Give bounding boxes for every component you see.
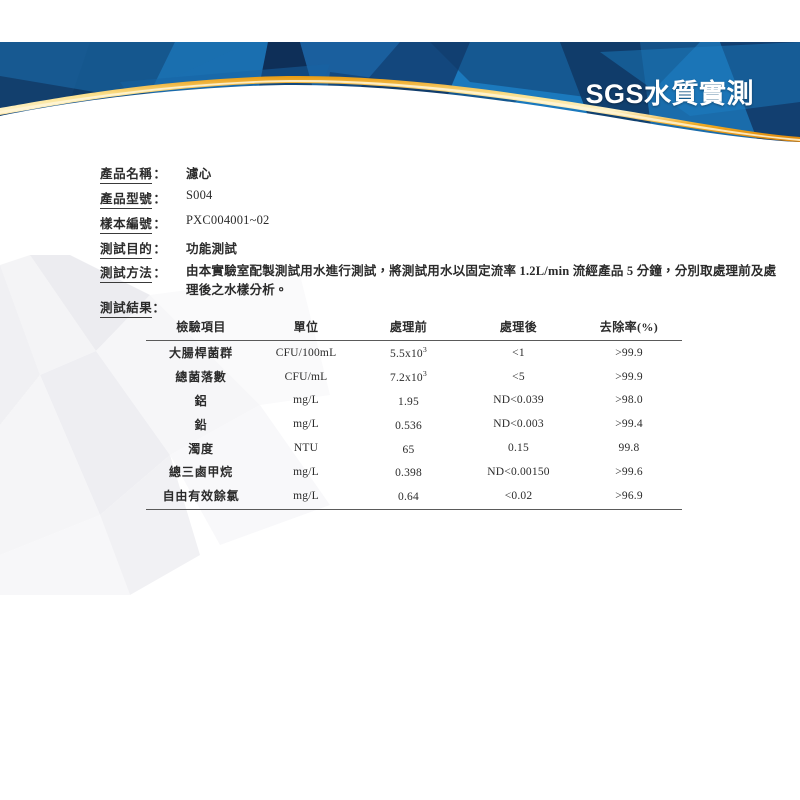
cell-before: 5.5x103 [356, 341, 461, 365]
table-row: 總菌落數 CFU/mL 7.2x103 <5 >99.9 [146, 365, 682, 389]
cell-before: 7.2x103 [356, 365, 461, 389]
field-label-model-number: 產品型號： [100, 188, 178, 209]
field-value-sample-number: PXC004001~02 [178, 213, 269, 228]
field-value-test-purpose: 功能測試 [178, 238, 237, 257]
cell-before: 1.95 [356, 389, 461, 413]
cell-item: 鉛 [146, 412, 256, 436]
cell-before-mantissa: 7.2x10 [390, 372, 423, 384]
table-row: 鋁 mg/L 1.95 ND<0.039 >98.0 [146, 389, 682, 413]
page-title: SGS水質實測 [585, 72, 754, 111]
cell-after: 0.15 [461, 436, 576, 460]
field-sample-number: 樣本編號： PXC004001~02 [100, 213, 269, 234]
cell-before: 0.398 [356, 460, 461, 484]
cell-before: 0.536 [356, 412, 461, 436]
cell-removal: >99.4 [576, 412, 682, 436]
cell-removal: >99.9 [576, 341, 682, 365]
table-row: 濁度 NTU 65 0.15 99.8 [146, 436, 682, 460]
field-value-test-method: 由本實驗室配製測試用水進行測試，將測試用水以固定流率 1.2L/min 流經產品… [178, 262, 786, 300]
cell-item: 大腸桿菌群 [146, 341, 256, 365]
cell-after: ND<0.039 [461, 389, 576, 413]
cell-before-exponent: 3 [423, 345, 427, 354]
column-header-before: 處理前 [356, 316, 461, 341]
field-label-test-purpose: 測試目的： [100, 238, 178, 259]
table-row: 總三鹵甲烷 mg/L 0.398 ND<0.00150 >99.6 [146, 460, 682, 484]
cell-removal: >96.9 [576, 484, 682, 510]
table-row: 大腸桿菌群 CFU/100mL 5.5x103 <1 >99.9 [146, 341, 682, 365]
cell-item: 總菌落數 [146, 365, 256, 389]
field-label-product-name: 產品名稱： [100, 163, 178, 184]
cell-before-mantissa: 1.95 [398, 396, 419, 408]
column-header-item: 檢驗項目 [146, 316, 256, 341]
cell-before: 0.64 [356, 484, 461, 510]
column-header-unit: 單位 [256, 316, 356, 341]
cell-unit: mg/L [256, 412, 356, 436]
cell-removal: >99.6 [576, 460, 682, 484]
cell-unit: NTU [256, 436, 356, 460]
cell-removal: >98.0 [576, 389, 682, 413]
field-label-sample-number: 樣本編號： [100, 213, 178, 234]
field-value-product-name: 濾心 [178, 163, 212, 182]
cell-item: 濁度 [146, 436, 256, 460]
cell-after: ND<0.003 [461, 412, 576, 436]
cell-before-mantissa: 0.64 [398, 491, 419, 503]
table-row: 自由有效餘氯 mg/L 0.64 <0.02 >96.9 [146, 484, 682, 510]
cell-removal: 99.8 [576, 436, 682, 460]
field-product-name: 產品名稱： 濾心 [100, 163, 212, 184]
cell-before-mantissa: 5.5x10 [390, 348, 423, 360]
cell-before-mantissa: 65 [403, 443, 415, 455]
cell-unit: mg/L [256, 484, 356, 510]
field-label-test-method: 測試方法： [100, 262, 178, 283]
field-test-method: 測試方法： 由本實驗室配製測試用水進行測試，將測試用水以固定流率 1.2L/mi… [100, 262, 786, 300]
table-header-row: 檢驗項目 單位 處理前 處理後 去除率(%) [146, 316, 682, 341]
cell-item: 自由有效餘氯 [146, 484, 256, 510]
cell-unit: mg/L [256, 460, 356, 484]
cell-after: <5 [461, 365, 576, 389]
results-section-label: 測試結果： [100, 297, 166, 318]
column-header-after: 處理後 [461, 316, 576, 341]
field-model-number: 產品型號： S004 [100, 188, 213, 209]
cell-after: <1 [461, 341, 576, 365]
cell-after: <0.02 [461, 484, 576, 510]
cell-before-mantissa: 0.536 [395, 420, 422, 432]
cell-after: ND<0.00150 [461, 460, 576, 484]
cell-unit: mg/L [256, 389, 356, 413]
cell-before: 65 [356, 436, 461, 460]
cell-removal: >99.9 [576, 365, 682, 389]
cell-before-mantissa: 0.398 [395, 467, 422, 479]
results-table: 檢驗項目 單位 處理前 處理後 去除率(%) 大腸桿菌群 CFU/100mL 5… [146, 316, 682, 510]
cell-unit: CFU/mL [256, 365, 356, 389]
field-test-purpose: 測試目的： 功能測試 [100, 238, 237, 259]
column-header-removal-rate: 去除率(%) [576, 316, 682, 341]
table-row: 鉛 mg/L 0.536 ND<0.003 >99.4 [146, 412, 682, 436]
cell-before-exponent: 3 [423, 369, 427, 378]
cell-unit: CFU/100mL [256, 341, 356, 365]
cell-item: 鋁 [146, 389, 256, 413]
field-value-model-number: S004 [178, 188, 213, 203]
cell-item: 總三鹵甲烷 [146, 460, 256, 484]
